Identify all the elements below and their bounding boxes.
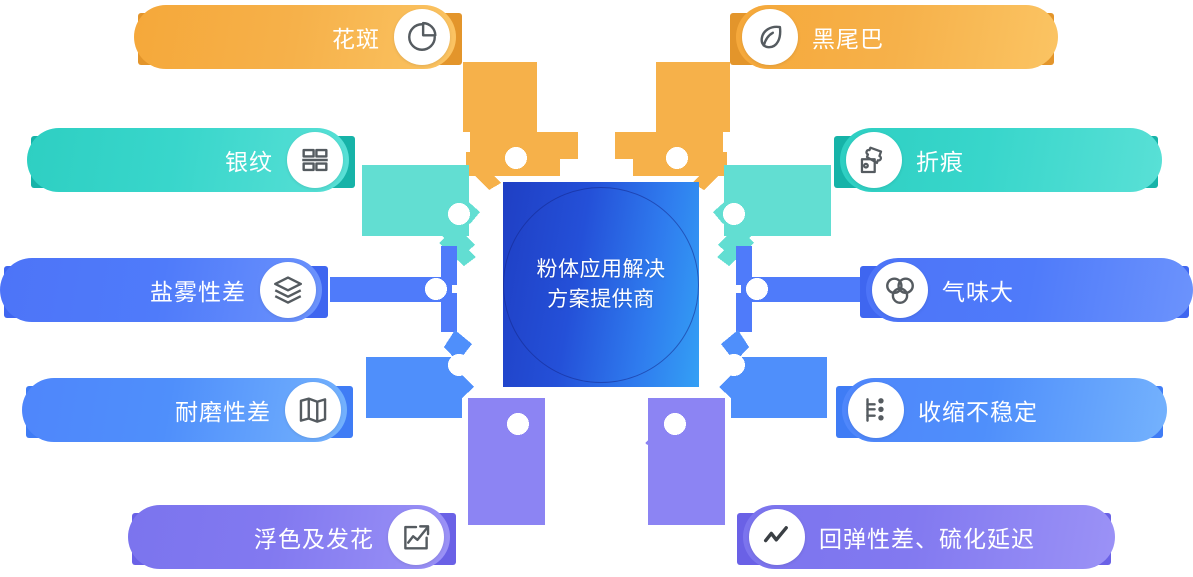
brick-wall-icon	[287, 132, 343, 188]
branch-pill-yin-wen[interactable]: 银纹	[27, 128, 349, 192]
branch-label-fu-se-ji-fa-hua: 浮色及发花	[254, 520, 374, 554]
hub-label: 粉体应用解决 方案提供商	[503, 255, 699, 315]
puzzle-piece-icon	[846, 132, 902, 188]
branch-pill-nai-mo-xing-cha[interactable]: 耐磨性差	[22, 378, 347, 442]
branch-pill-hei-wei-ba[interactable]: 黑尾巴	[736, 5, 1058, 69]
diagram-canvas: 粉体应用解决 方案提供商 花斑 黑尾巴	[0, 0, 1193, 577]
recycle-icon	[872, 262, 928, 318]
branch-label-zhe-hen: 折痕	[916, 143, 964, 177]
branch-label-hei-wei-ba: 黑尾巴	[812, 20, 884, 54]
connector-nai-mo-xing-cha	[366, 330, 474, 418]
connector-shou-suo-bu-wen-ding	[719, 330, 827, 418]
connector-yin-wen	[362, 165, 480, 266]
connector-zhe-hen	[713, 165, 831, 266]
branch-label-nai-mo-xing-cha: 耐磨性差	[175, 393, 271, 427]
leaf-icon	[742, 9, 798, 65]
center-hub: 粉体应用解决 方案提供商	[503, 182, 699, 387]
connector-hui-tan-xing-cha	[645, 398, 725, 525]
connector-hua-ban	[463, 62, 578, 190]
branch-pill-shou-suo-bu-wen-ding[interactable]: 收缩不稳定	[842, 378, 1167, 442]
branch-pill-hua-ban[interactable]: 花斑	[134, 5, 456, 69]
branch-pill-zhe-hen[interactable]: 折痕	[840, 128, 1162, 192]
branch-pill-yan-wu-xing-cha[interactable]: 盐雾性差	[0, 258, 322, 322]
branch-label-shou-suo-bu-wen-ding: 收缩不稳定	[918, 393, 1038, 427]
branch-label-hui-tan-xing-cha: 回弹性差、硫化延迟	[819, 520, 1035, 554]
branch-pill-hui-tan-xing-cha[interactable]: 回弹性差、硫化延迟	[743, 505, 1115, 569]
branch-label-yin-wen: 银纹	[225, 143, 273, 177]
branch-label-qi-wei-da: 气味大	[942, 273, 1014, 307]
open-book-icon	[285, 382, 341, 438]
branch-label-yan-wu-xing-cha: 盐雾性差	[150, 273, 246, 307]
line-chart-icon	[749, 509, 805, 565]
connector-yan-wu-xing-cha	[330, 246, 457, 332]
connector-hei-wei-ba	[615, 62, 730, 190]
layers-icon	[260, 262, 316, 318]
trending-up-box-icon	[388, 509, 444, 565]
branch-pill-fu-se-ji-fa-hua[interactable]: 浮色及发花	[128, 505, 450, 569]
pie-chart-icon	[394, 9, 450, 65]
connector-fu-se-ji-fa-hua	[468, 398, 545, 525]
sitemap-icon	[848, 382, 904, 438]
connector-qi-wei-da	[736, 246, 863, 332]
branch-label-hua-ban: 花斑	[332, 20, 380, 54]
branch-pill-qi-wei-da[interactable]: 气味大	[866, 258, 1193, 322]
